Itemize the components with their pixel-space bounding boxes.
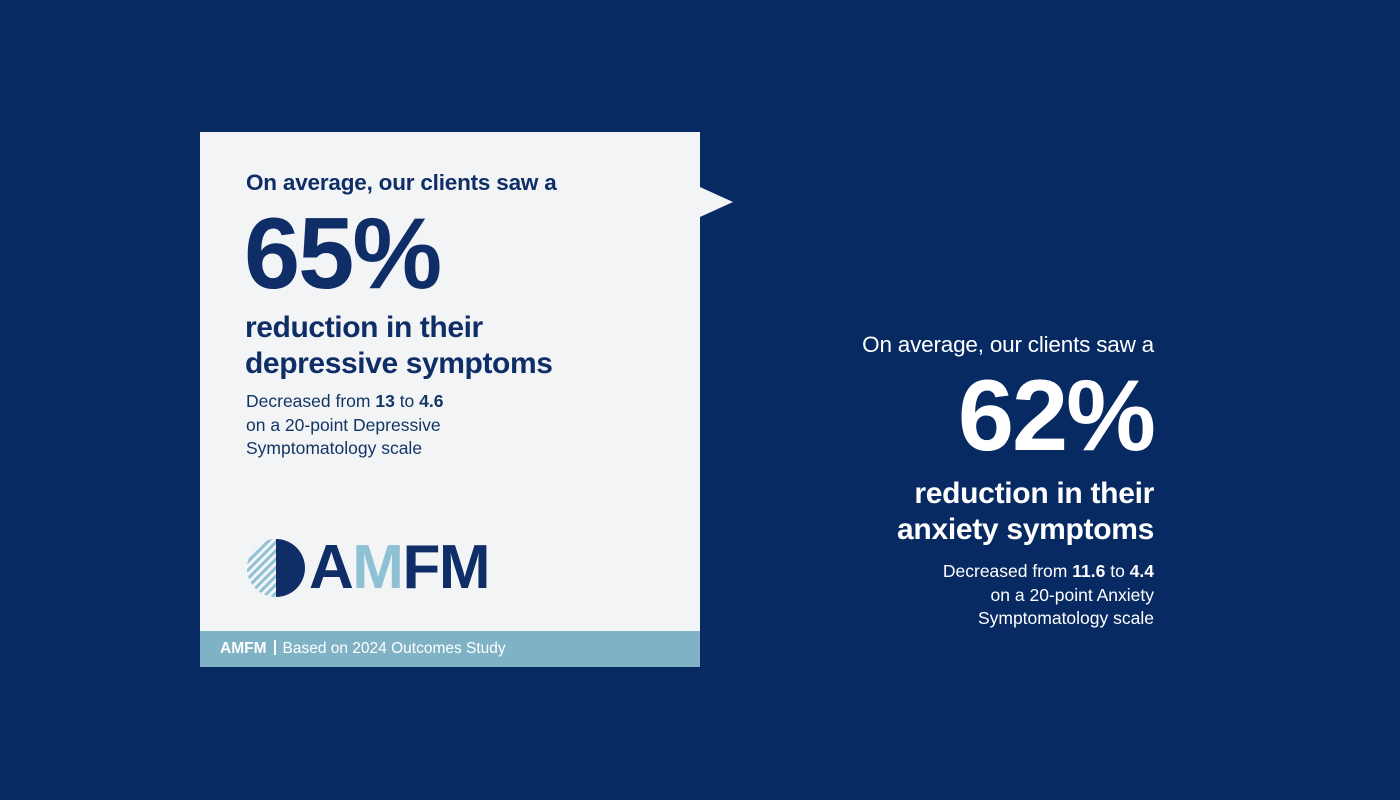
anxiety-detail: Decreased from 11.6 to 4.4 on a 20-point… [760,560,1154,631]
footer-source: Based on 2024 Outcomes Study [283,640,506,657]
depression-detail: Decreased from 13 to 4.6 on a 20-point D… [246,390,443,461]
anxiety-detail-to-value: 4.4 [1130,561,1154,581]
depression-headline: On average, our clients saw a [246,170,557,196]
anxiety-percent-value: 62% [760,362,1154,470]
logo-letter-m1: M [352,533,402,602]
anxiety-subhead-line2: anxiety symptoms [760,512,1154,548]
logo-letter-m2: M [439,533,489,602]
depression-subhead-line1: reduction in their [245,310,553,346]
amfm-wordmark: AMFM [309,537,489,599]
speech-bubble-tail-top [700,187,733,217]
anxiety-subhead-line1: reduction in their [760,476,1154,512]
footer-source-text: AMFMBased on 2024 Outcomes Study [220,640,506,658]
anxiety-detail-from-value: 11.6 [1072,561,1105,581]
depression-detail-line3: Symptomatology scale [246,437,443,461]
footer-brand: AMFM [220,640,267,657]
anxiety-detail-line3: Symptomatology scale [760,607,1154,631]
anxiety-headline: On average, our clients saw a [760,330,1154,360]
depression-detail-line1: Decreased from 13 to 4.6 [246,390,443,414]
depression-detail-from-value: 13 [375,391,394,411]
amfm-logo: AMFM [245,537,489,599]
depression-detail-line2: on a 20-point Depressive [246,414,443,438]
logo-letter-f: F [402,533,438,602]
depression-stat-card: On average, our clients saw a 65% reduct… [200,132,700,667]
anxiety-detail-prefix: Decreased from [943,561,1072,581]
card-footer-bar: AMFMBased on 2024 Outcomes Study [200,631,700,667]
depression-percent-value: 65% [244,204,440,305]
depression-subhead-line2: depressive symptoms [245,346,553,382]
amfm-circle-mark [245,537,307,599]
depression-detail-to-value: 4.6 [419,391,443,411]
depression-detail-middle: to [395,391,419,411]
depression-card-body: On average, our clients saw a 65% reduct… [200,132,700,631]
anxiety-stat-panel: On average, our clients saw a 62% reduct… [760,330,1154,631]
logo-letter-a: A [309,533,352,602]
anxiety-detail-line2: on a 20-point Anxiety [760,584,1154,608]
infographic-stage: On average, our clients saw a 65% reduct… [0,0,1400,800]
footer-divider [274,640,276,655]
anxiety-subhead: reduction in their anxiety symptoms [760,476,1154,548]
depression-subhead: reduction in their depressive symptoms [245,310,553,382]
depression-detail-prefix: Decreased from [246,391,375,411]
anxiety-detail-middle: to [1105,561,1129,581]
anxiety-detail-line1: Decreased from 11.6 to 4.4 [760,560,1154,584]
